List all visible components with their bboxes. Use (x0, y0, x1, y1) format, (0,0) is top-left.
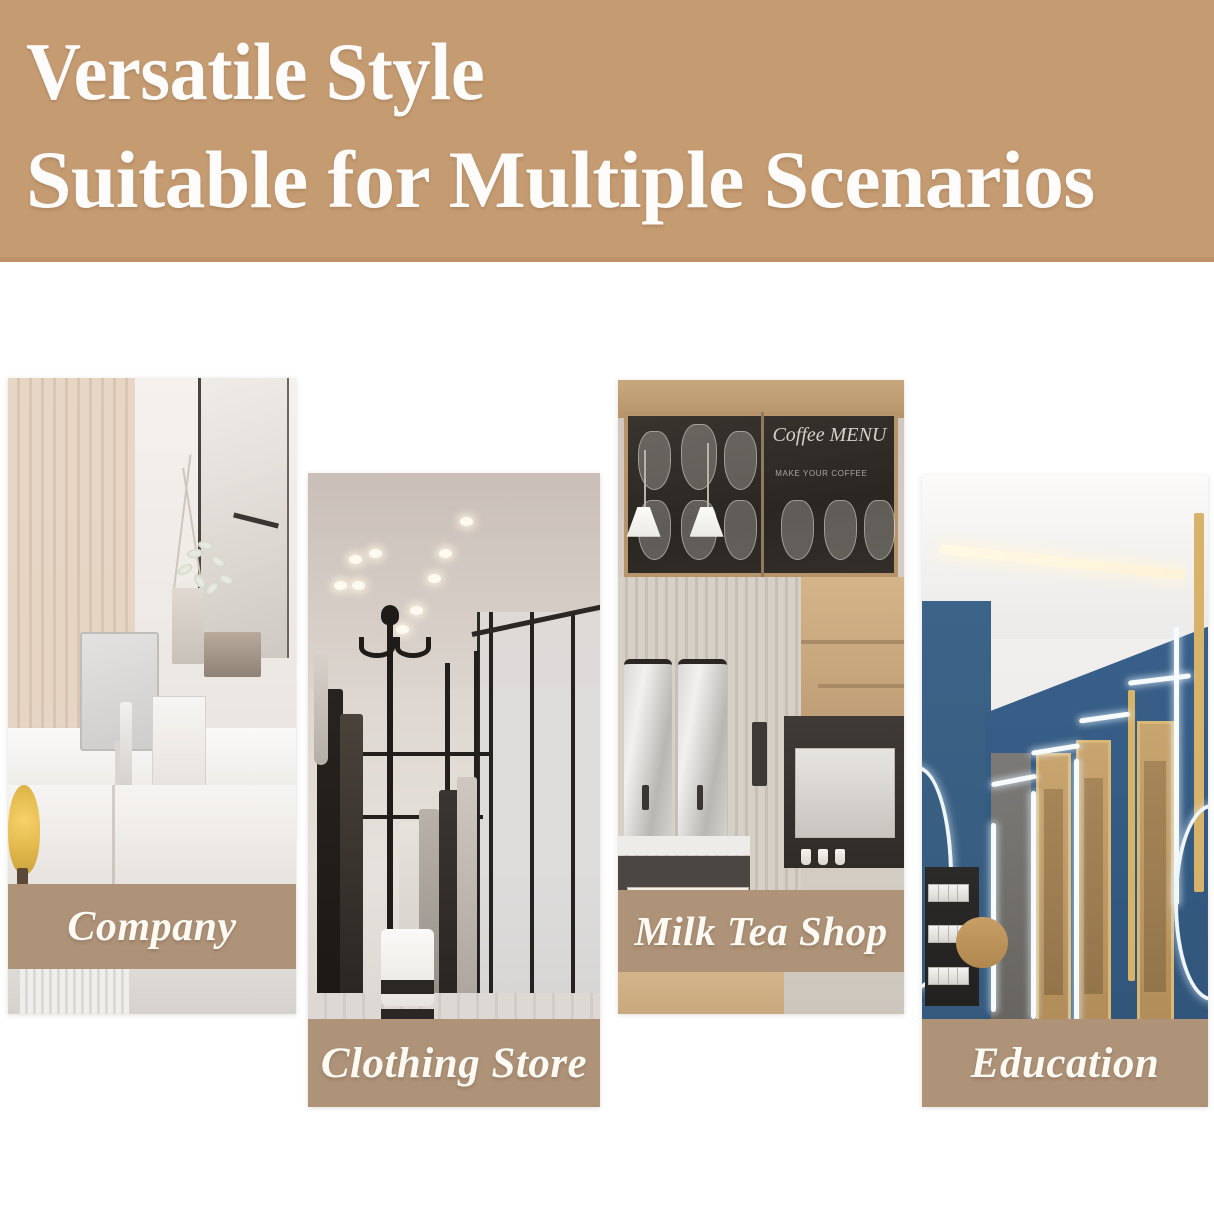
display-case (795, 748, 894, 839)
scene-caption-milktea: Milk Tea Shop (618, 890, 904, 972)
scene-photo-education (922, 475, 1208, 1107)
coffee-menu-title: Coffee MENU (772, 424, 898, 447)
coffee-menu-subtitle: MAKE YOUR COFFEE (775, 469, 901, 478)
scene-panel-education[interactable]: Education (922, 475, 1208, 1107)
beverage-dispenser (624, 659, 673, 842)
wall-switch-icon (752, 722, 766, 785)
scene-panel-company[interactable]: Company (8, 378, 296, 1014)
scene-panel-milktea[interactable]: Coffee MENU MAKE YOUR COFFEE M (618, 380, 904, 1014)
title-line-1: Versatile Style (26, 18, 1123, 126)
robot-vacuum (381, 929, 434, 1005)
scene-caption-education: Education (922, 1019, 1208, 1107)
header-banner: Versatile Style Suitable for Multiple Sc… (0, 0, 1214, 262)
scene-caption-company: Company (8, 884, 296, 969)
plant-icon (175, 531, 261, 633)
page-title: Versatile Style Suitable for Multiple Sc… (26, 18, 1206, 234)
scene-photo-clothing (308, 473, 600, 1107)
scene-panel-clothing[interactable]: Clothing Store (308, 473, 600, 1107)
scene-caption-clothing: Clothing Store (308, 1019, 600, 1107)
beverage-dispenser (678, 659, 727, 842)
title-line-2: Suitable for Multiple Scenarios (26, 126, 1200, 234)
